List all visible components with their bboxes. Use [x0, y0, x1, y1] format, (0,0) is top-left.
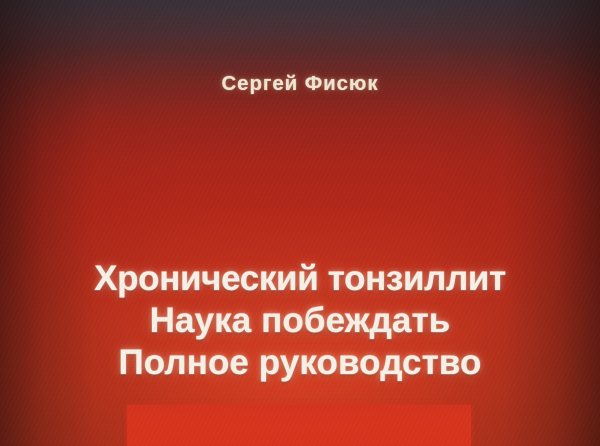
- title-line-1: Хронический тонзиллит: [0, 258, 600, 300]
- title-block: Хронический тонзиллит Наука побеждать По…: [0, 258, 600, 384]
- author-name: Сергей Фисюк: [0, 72, 600, 96]
- title-line-2: Наука побеждать: [0, 300, 600, 342]
- bottom-highlight-band: [127, 405, 471, 446]
- book-cover: Сергей Фисюк Хронический тонзиллит Наука…: [0, 0, 600, 446]
- title-line-3: Полное руководство: [0, 342, 600, 384]
